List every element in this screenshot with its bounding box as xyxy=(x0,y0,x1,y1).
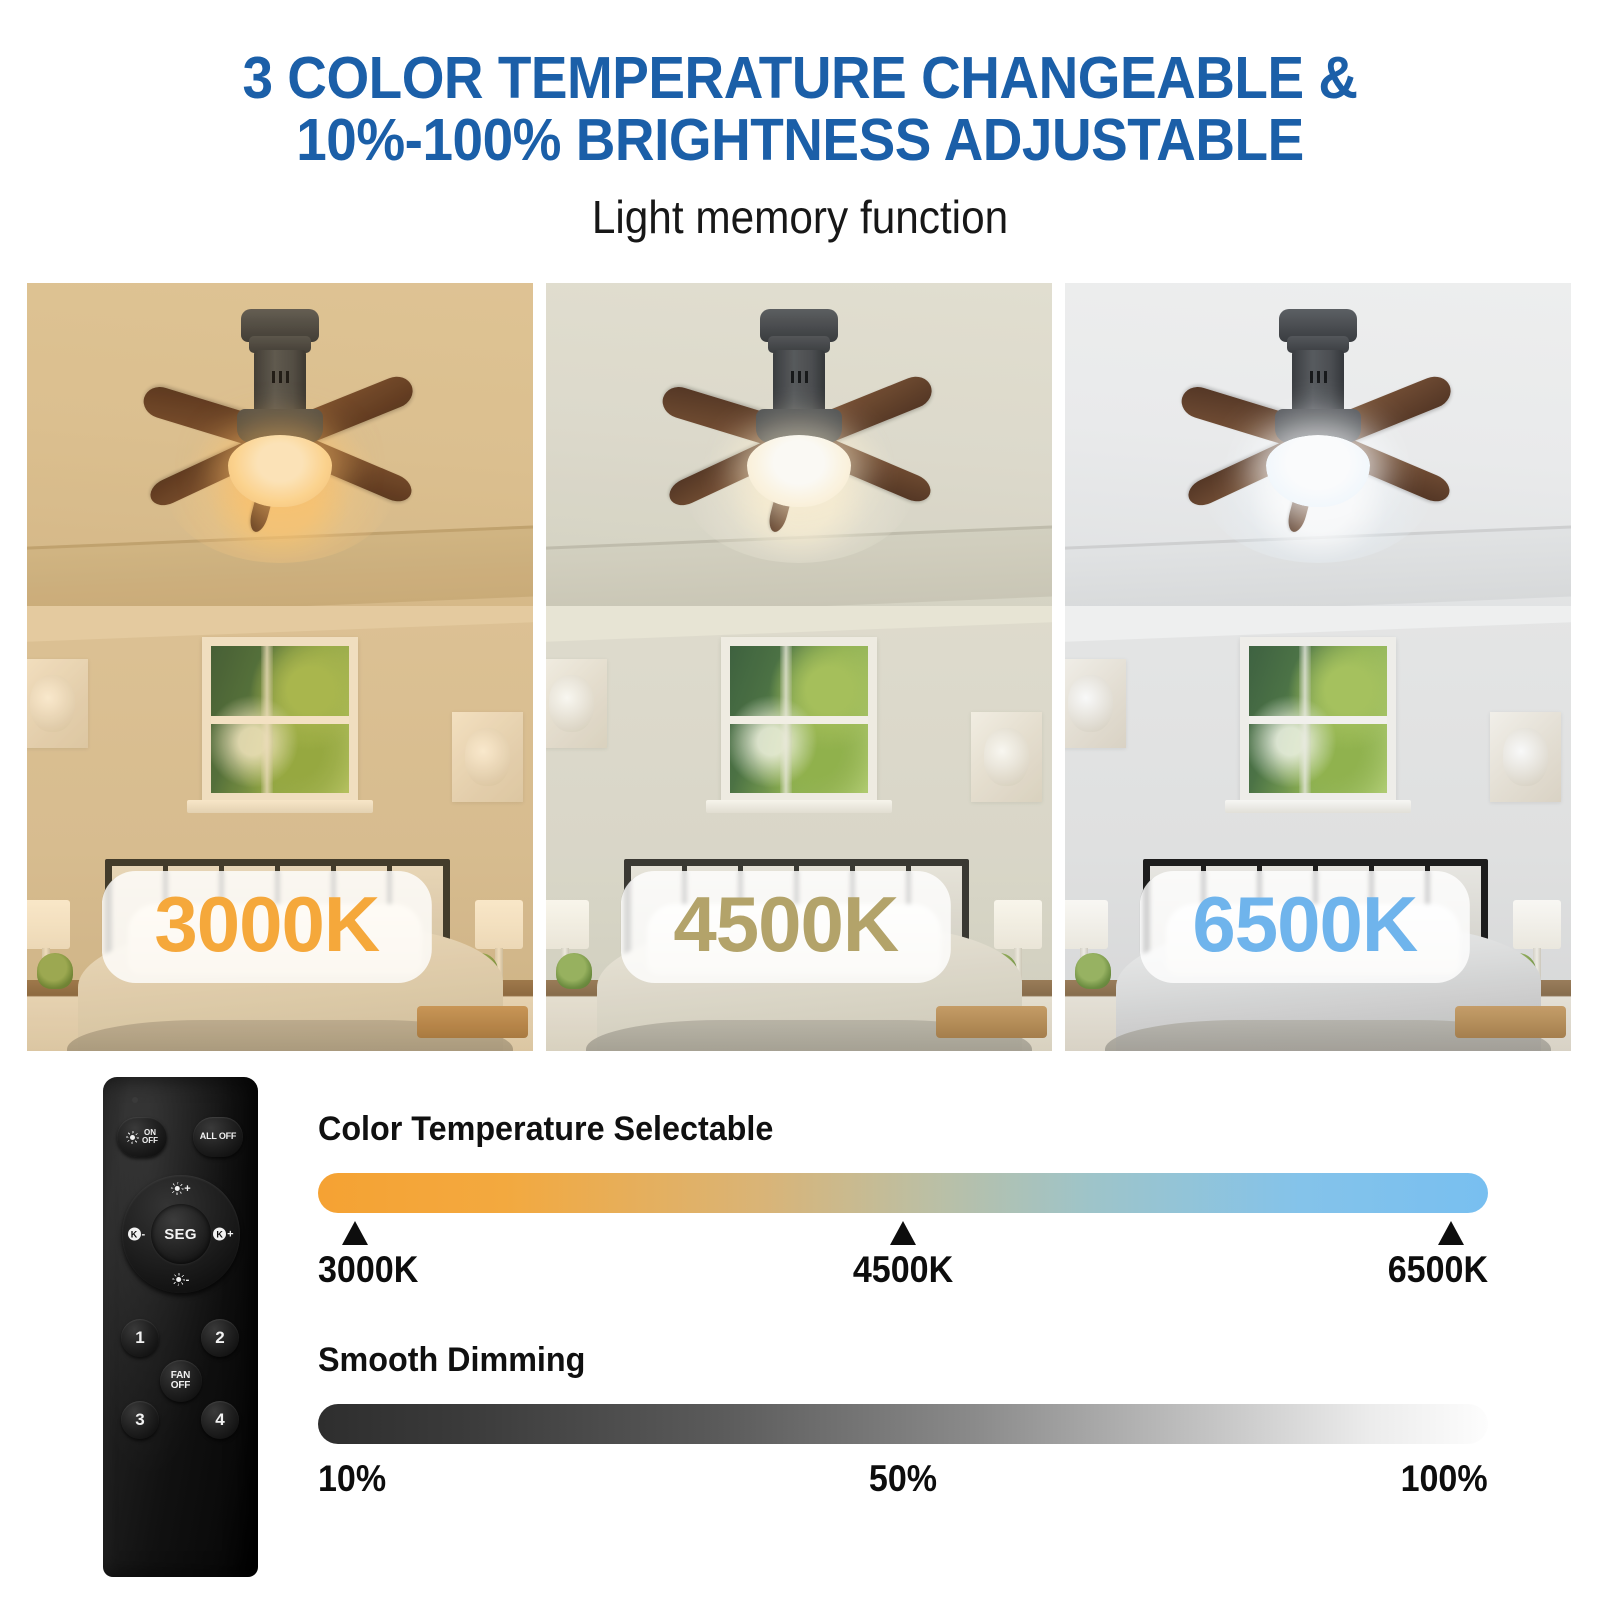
subtitle: Light memory function xyxy=(64,190,1536,244)
kelvin-up-button[interactable]: K + xyxy=(213,1228,233,1241)
product-feature-page: 3 COLOR TEMPERATURE CHANGEABLE & 10%-100… xyxy=(0,0,1600,1600)
fan-vents xyxy=(1305,371,1331,383)
bedroom-scene-3000k xyxy=(27,606,533,1051)
speed-2-label: 2 xyxy=(215,1329,224,1346)
window-mullion xyxy=(1249,716,1388,724)
wall-art xyxy=(452,712,523,801)
potted-plant xyxy=(37,953,72,989)
potted-plant xyxy=(556,953,591,989)
kelvin-down-button[interactable]: K - xyxy=(128,1228,146,1241)
cct-marker-row xyxy=(318,1221,1488,1247)
lamp-shade xyxy=(546,900,589,950)
woven-tray xyxy=(936,1006,1047,1037)
sun-icon xyxy=(170,1182,183,1195)
fan-vents xyxy=(786,371,812,383)
cct-marker-4500k xyxy=(890,1221,916,1245)
cct-heading: Color Temperature Selectable xyxy=(318,1110,1430,1149)
light-on-off-button[interactable]: ON OFF xyxy=(117,1117,167,1157)
cct-tick-6500k: 6500K xyxy=(1388,1249,1488,1291)
fan-light-dome xyxy=(228,435,332,507)
dpad-ring[interactable]: + K - K + - SEG xyxy=(122,1175,240,1293)
ceiling-fan-3000k xyxy=(80,309,480,606)
panel-4500k: 4500K xyxy=(546,283,1052,1051)
off-label: OFF xyxy=(142,1137,158,1145)
badge-3000k: 3000K xyxy=(102,871,432,983)
fan-downrod xyxy=(773,350,825,416)
fan-off-button[interactable]: FAN OFF xyxy=(160,1360,202,1402)
remote-control: ON OFF ALL OFF + K - K + - xyxy=(103,1077,258,1577)
window-mullion xyxy=(730,716,869,724)
kelvin-down-suffix: - xyxy=(142,1228,146,1240)
ceiling-fan-6500k xyxy=(1118,309,1518,606)
seg-button[interactable]: SEG xyxy=(151,1204,211,1264)
lamp-shade xyxy=(27,900,70,950)
ir-led-icon xyxy=(132,1097,138,1103)
bedroom-scene-4500k xyxy=(546,606,1052,1051)
wall-art xyxy=(27,659,88,748)
ceiling-area-4500k xyxy=(546,283,1052,606)
wall-art xyxy=(1065,659,1126,748)
fan-off-line-2: OFF xyxy=(171,1381,190,1391)
window xyxy=(721,637,878,802)
kelvin-icon: K xyxy=(128,1228,141,1241)
sun-icon xyxy=(126,1131,139,1144)
badge-6500k: 6500K xyxy=(1140,871,1470,983)
wall-art xyxy=(546,659,607,748)
lamp-shade xyxy=(475,900,523,950)
feature-scales: Color Temperature Selectable 3000K 4500K… xyxy=(318,1110,1488,1504)
fan-vents xyxy=(267,371,293,383)
dimming-heading: Smooth Dimming xyxy=(318,1341,1430,1380)
speed-1-button[interactable]: 1 xyxy=(121,1319,159,1357)
dimming-tick-10: 10% xyxy=(318,1458,386,1500)
speed-4-button[interactable]: 4 xyxy=(201,1401,239,1439)
seg-label: SEG xyxy=(164,1226,197,1243)
bedroom-scene-6500k xyxy=(1065,606,1571,1051)
badge-4500k: 4500K xyxy=(621,871,951,983)
fan-light-dome xyxy=(747,435,851,507)
cct-tick-3000k: 3000K xyxy=(318,1249,418,1291)
window-mullion xyxy=(211,716,350,724)
wall-art xyxy=(1490,712,1561,801)
speed-2-button[interactable]: 2 xyxy=(201,1319,239,1357)
window-sill xyxy=(187,800,372,813)
window-casing xyxy=(721,637,878,802)
window-casing xyxy=(1240,637,1397,802)
panel-3000k: 3000K xyxy=(27,283,533,1051)
fan-downrod xyxy=(1292,350,1344,416)
dimming-tick-50: 50% xyxy=(869,1458,937,1500)
lamp-shade xyxy=(994,900,1042,950)
ceiling-fan-4500k xyxy=(599,309,999,606)
cct-tick-4500k: 4500K xyxy=(853,1249,953,1291)
window xyxy=(1240,637,1397,802)
cct-scale-group: Color Temperature Selectable 3000K 4500K… xyxy=(318,1110,1488,1295)
photo-panel-row: 3000K xyxy=(27,283,1573,1051)
badge-label: 4500K xyxy=(673,880,898,968)
headline-line-2: 10%-100% BRIGHTNESS ADJUSTABLE xyxy=(56,110,1544,172)
brightness-down-suffix: - xyxy=(186,1274,190,1286)
brightness-down-button[interactable]: - xyxy=(172,1273,190,1286)
speed-3-button[interactable]: 3 xyxy=(121,1401,159,1439)
panel-6500k: 6500K xyxy=(1065,283,1571,1051)
woven-tray xyxy=(417,1006,528,1037)
lamp-shade xyxy=(1513,900,1561,950)
speed-1-label: 1 xyxy=(135,1329,144,1346)
page-title: 3 COLOR TEMPERATURE CHANGEABLE & 10%-100… xyxy=(56,48,1544,172)
cct-marker-3000k xyxy=(342,1221,368,1245)
sun-icon xyxy=(172,1273,185,1286)
ceiling-area-3000k xyxy=(27,283,533,606)
window xyxy=(202,637,359,802)
speed-3-label: 3 xyxy=(135,1411,144,1428)
cct-tick-row: 3000K 4500K 6500K xyxy=(318,1249,1488,1295)
fan-light-dome xyxy=(1266,435,1370,507)
headline-line-1: 3 COLOR TEMPERATURE CHANGEABLE & xyxy=(56,48,1544,110)
wall-art xyxy=(971,712,1042,801)
badge-label: 6500K xyxy=(1192,880,1417,968)
lamp-shade xyxy=(1065,900,1108,950)
brightness-up-suffix: + xyxy=(184,1183,190,1195)
dimming-scale-group: Smooth Dimming 10% 50% 100% xyxy=(318,1341,1488,1504)
scale-spacer xyxy=(318,1295,1488,1341)
fan-downrod xyxy=(254,350,306,416)
woven-tray xyxy=(1455,1006,1566,1037)
cct-marker-6500k xyxy=(1438,1221,1464,1245)
cct-gradient-bar xyxy=(318,1173,1488,1213)
headline-block: 3 COLOR TEMPERATURE CHANGEABLE & 10%-100… xyxy=(0,48,1600,244)
window-sill xyxy=(1225,800,1410,813)
potted-plant xyxy=(1075,953,1110,989)
all-off-button[interactable]: ALL OFF xyxy=(193,1117,243,1157)
dimming-tick-row: 10% 50% 100% xyxy=(318,1458,1488,1504)
all-off-label: ALL OFF xyxy=(200,1132,236,1141)
kelvin-icon: K xyxy=(213,1228,226,1241)
kelvin-up-suffix: + xyxy=(227,1228,233,1240)
badge-label: 3000K xyxy=(154,880,379,968)
speed-4-label: 4 xyxy=(215,1411,224,1428)
window-casing xyxy=(202,637,359,802)
dimming-gradient-bar xyxy=(318,1404,1488,1444)
dimming-tick-100: 100% xyxy=(1401,1458,1488,1500)
ceiling-area-6500k xyxy=(1065,283,1571,606)
window-sill xyxy=(706,800,891,813)
brightness-up-button[interactable]: + xyxy=(170,1182,190,1195)
